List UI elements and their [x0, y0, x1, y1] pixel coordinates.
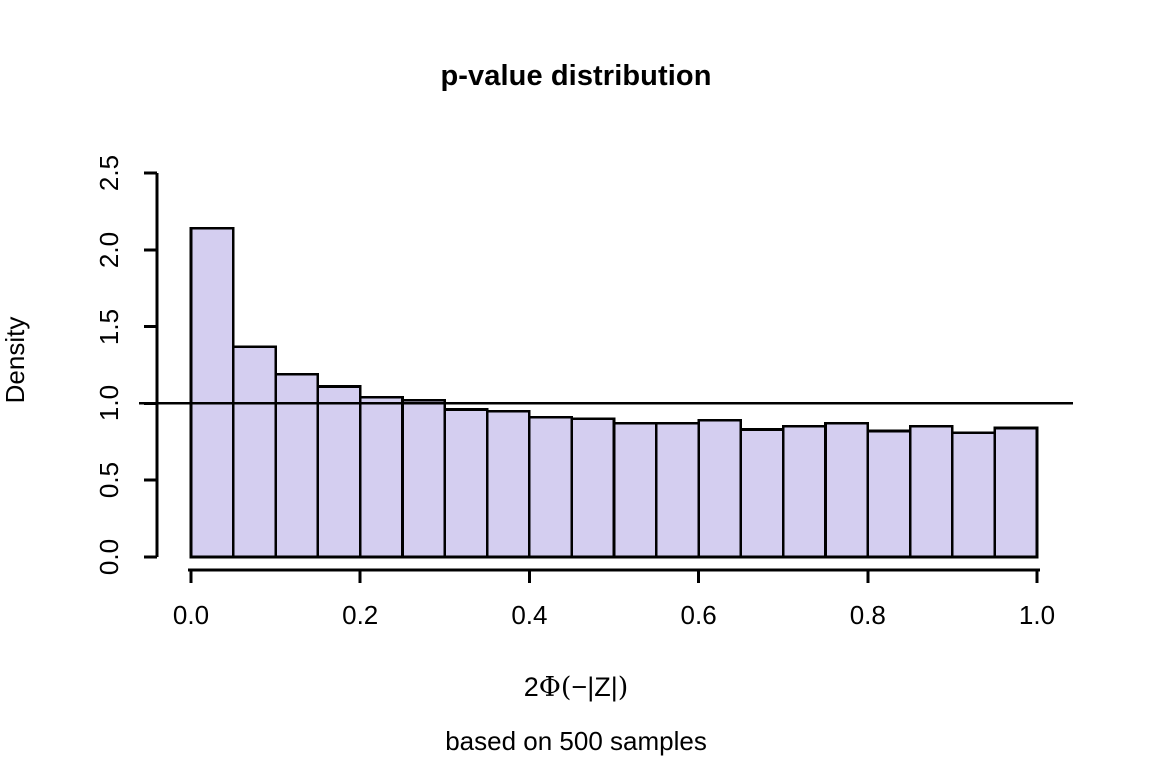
y-tick-label: 2.0	[93, 215, 125, 285]
histogram-bar	[360, 397, 402, 557]
histogram-bar	[741, 430, 783, 557]
histogram-bar	[826, 423, 868, 557]
x-tick-label: 0.8	[850, 600, 886, 631]
y-tick-label: 0.5	[93, 445, 125, 515]
x-tick-label: 1.0	[1019, 600, 1055, 631]
histogram-bar	[318, 387, 360, 557]
y-tick-label: 2.5	[93, 138, 125, 208]
histogram-bar	[233, 347, 275, 557]
x-tick-label: 0.4	[511, 600, 547, 631]
histogram-bar	[656, 423, 698, 557]
histogram-bar	[529, 417, 571, 557]
histogram-svg	[0, 0, 1152, 768]
histogram-bar	[572, 419, 614, 557]
histogram-bar	[276, 374, 318, 557]
histogram-bar	[699, 420, 741, 557]
y-tick-label: 1.5	[93, 292, 125, 362]
x-tick-label: 0.0	[173, 600, 209, 631]
histogram-bar	[783, 426, 825, 557]
y-tick-label: 1.0	[93, 368, 125, 438]
histogram-bar	[403, 400, 445, 557]
y-axis	[144, 173, 157, 557]
histogram-bar	[487, 411, 529, 557]
x-tick-label: 0.6	[681, 600, 717, 631]
histogram-bar	[445, 410, 487, 557]
histogram-bar	[910, 426, 952, 557]
x-tick-label: 0.2	[342, 600, 378, 631]
plot-canvas: p-value distribution Density 2Φ(−|Z|) ba…	[0, 0, 1152, 768]
histogram-bar	[191, 228, 233, 557]
histogram-bar	[952, 433, 994, 557]
histogram-bar	[868, 431, 910, 557]
histogram-bar	[995, 428, 1037, 557]
histogram-bar	[614, 423, 656, 557]
y-tick-label: 0.0	[93, 522, 125, 592]
histogram-bars	[191, 228, 1037, 557]
x-axis	[188, 570, 1040, 583]
